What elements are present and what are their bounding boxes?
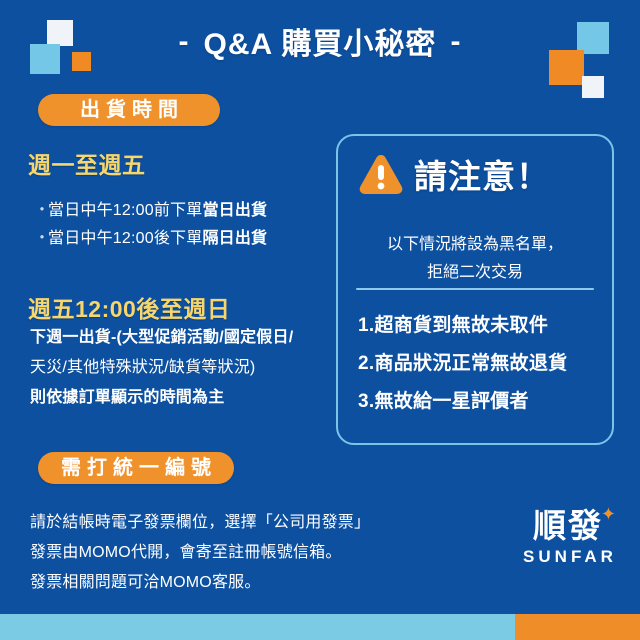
- bullet-strong: 當日出貨: [202, 202, 267, 219]
- bullet-dot: ・: [34, 224, 48, 248]
- shipping-weekend-line-2: 天災/其他特殊狀況/缺貨等狀況): [30, 353, 255, 377]
- decor-square-white-topright: [582, 76, 604, 98]
- notice-item-2: 2.商品狀況正常無故退貨: [358, 348, 567, 375]
- bullet-strong: 隔日出貨: [202, 230, 267, 247]
- bullet-dot: ・: [34, 196, 48, 220]
- invoice-line-3: 發票相關問題可洽MOMO客服。: [30, 568, 261, 592]
- title-dash-right: -: [436, 20, 475, 64]
- invoice-line-1: 請於結帳時電子發票欄位，選擇「公司用發票」: [30, 508, 370, 532]
- bullet-prefix: 當日中午12:00後下單: [48, 230, 202, 247]
- shipping-weekend-heading: 週五12:00後至週日: [28, 290, 230, 324]
- title-text: Q&A 購買小秘密: [204, 28, 437, 61]
- brand-logo-cn-wrap: 順發 ✦: [516, 506, 620, 546]
- notice-subtitle-line-1: 以下情況將設為黑名單，: [338, 230, 612, 254]
- shipping-weekend-line-3: 則依據訂單顯示的時間為主: [30, 383, 224, 407]
- shipping-weekday-bullet-1: ・當日中午12:00前下單當日出貨: [34, 196, 267, 220]
- notice-item-1: 1.超商貨到無故未取件: [358, 310, 548, 337]
- footer-bar-orange-accent: [515, 614, 640, 640]
- brand-logo: 順發 ✦ SUNFAR: [516, 506, 620, 578]
- notice-item-3: 3.無故給一星評價者: [358, 386, 529, 413]
- bullet-prefix: 當日中午12:00前下單: [48, 202, 202, 219]
- notice-divider: [356, 288, 594, 290]
- shipping-weekend-line-1: 下週一出貨-(大型促銷活動/國定假日/: [30, 323, 293, 347]
- brand-logo-cn: 順發: [533, 506, 603, 545]
- qa-poster: -Q&A 購買小秘密- 出貨時間 週一至週五 ・當日中午12:00前下單當日出貨…: [0, 0, 640, 640]
- notice-title: 請注意！: [414, 150, 550, 198]
- section-badge-invoice: 需打統一編號: [38, 452, 234, 484]
- title-dash-left: -: [165, 20, 204, 64]
- notice-header: 請注意！: [356, 150, 550, 198]
- section-badge-shipping: 出貨時間: [38, 94, 220, 126]
- brand-star-icon: ✦: [601, 506, 618, 524]
- shipping-weekday-bullet-2: ・當日中午12:00後下單隔日出貨: [34, 224, 267, 248]
- page-title: -Q&A 購買小秘密-: [0, 20, 640, 67]
- brand-logo-en: SUNFAR: [516, 546, 620, 568]
- invoice-line-2: 發票由MOMO代開，會寄至註冊帳號信箱。: [30, 538, 342, 562]
- shipping-weekday-heading: 週一至週五: [28, 146, 146, 180]
- warning-triangle-icon: [356, 151, 406, 197]
- notice-panel: 請注意！ 以下情況將設為黑名單， 拒絕二次交易 1.超商貨到無故未取件 2.商品…: [336, 134, 614, 445]
- notice-subtitle-line-2: 拒絕二次交易: [338, 258, 612, 282]
